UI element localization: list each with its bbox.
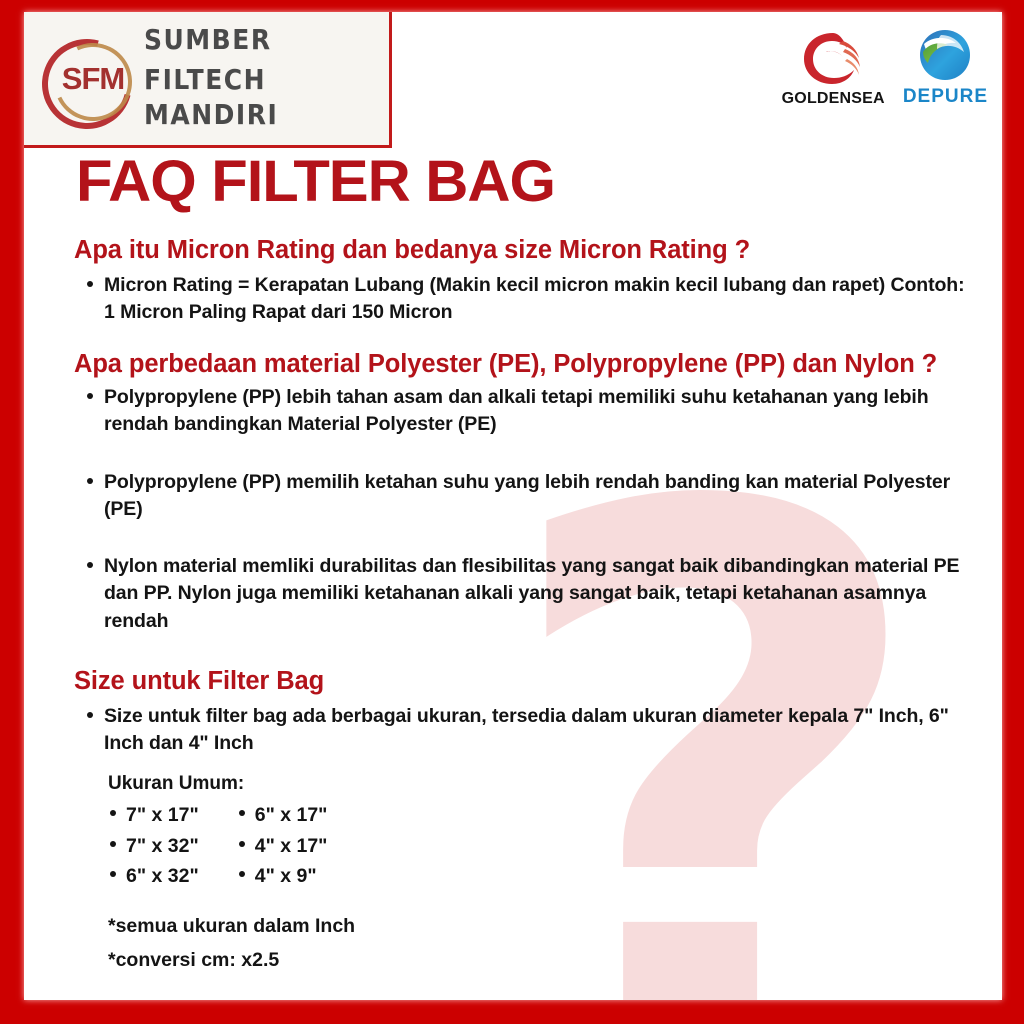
- faq-section-micron-rating: Apa itu Micron Rating dan bedanya size M…: [74, 234, 968, 326]
- list-item: 4" x 17": [255, 832, 328, 860]
- faq-section-size: Size untuk Filter Bag Size untuk filter …: [74, 665, 968, 975]
- partner-goldensea: GOLDENSEA: [782, 30, 885, 108]
- partner-logos: GOLDENSEA: [782, 26, 988, 108]
- list-item: 6" x 17": [255, 801, 328, 829]
- faq-answer-list: Micron Rating = Kerapatan Lubang (Makin …: [74, 272, 968, 327]
- faq-answer-list: Size untuk filter bag ada berbagai ukura…: [74, 703, 968, 758]
- sfm-logo-icon: SFM: [38, 33, 130, 125]
- brand-badge: SFM SUMBER FILTECH MANDIRI: [24, 12, 392, 148]
- goldensea-swirl-icon: [799, 30, 867, 88]
- poster-root: ? SFM SUMBER FILTECH MANDIRI: [0, 0, 1024, 1024]
- common-sizes-columns: 7" x 17" 7" x 32" 6" x 32" 6" x 17" 4" x…: [126, 801, 968, 892]
- depure-leaf-drop-icon: [911, 26, 979, 84]
- faq-question-heading: Apa itu Micron Rating dan bedanya size M…: [74, 234, 968, 268]
- faq-question-heading: Apa perbedaan material Polyester (PE), P…: [74, 348, 968, 382]
- common-sizes-label: Ukuran Umum:: [108, 773, 968, 795]
- size-column-left: 7" x 17" 7" x 32" 6" x 32": [126, 801, 199, 892]
- sfm-monogram-text: SFM: [38, 33, 130, 125]
- partner-depure: DEPURE: [903, 26, 988, 108]
- list-item: 6" x 32": [126, 862, 199, 890]
- list-item: Size untuk filter bag ada berbagai ukura…: [104, 703, 968, 758]
- brand-name-line-1: SUMBER FILTECH: [144, 20, 389, 101]
- size-column-right: 6" x 17" 4" x 17" 4" x 9": [255, 801, 328, 892]
- faq-content: Apa itu Micron Rating dan bedanya size M…: [74, 234, 968, 993]
- brand-name: SUMBER FILTECH MANDIRI: [144, 24, 389, 133]
- list-item: 7" x 32": [126, 832, 199, 860]
- list-item: Nylon material memliki durabilitas dan f…: [104, 553, 968, 635]
- partner-depure-label: DEPURE: [903, 86, 988, 108]
- brand-name-line-2: MANDIRI: [144, 94, 389, 135]
- size-note-conversion: *conversi cm: x2.5: [108, 946, 968, 974]
- white-content-card: ? SFM SUMBER FILTECH MANDIRI: [24, 12, 1002, 1000]
- list-item: Polypropylene (PP) memilih ketahan suhu …: [104, 469, 968, 524]
- size-note-units: *semua ukuran dalam Inch: [108, 912, 968, 940]
- faq-section-materials: Apa perbedaan material Polyester (PE), P…: [74, 348, 968, 635]
- list-item: Micron Rating = Kerapatan Lubang (Makin …: [104, 272, 968, 327]
- faq-question-heading: Size untuk Filter Bag: [74, 665, 968, 699]
- faq-answer-list: Polypropylene (PP) lebih tahan asam dan …: [74, 384, 968, 635]
- list-item: 4" x 9": [255, 862, 328, 890]
- list-item: 7" x 17": [126, 801, 199, 829]
- list-item: Polypropylene (PP) lebih tahan asam dan …: [104, 384, 968, 439]
- page-title: FAQ FILTER BAG: [76, 148, 555, 215]
- partner-goldensea-label: GOLDENSEA: [782, 90, 885, 108]
